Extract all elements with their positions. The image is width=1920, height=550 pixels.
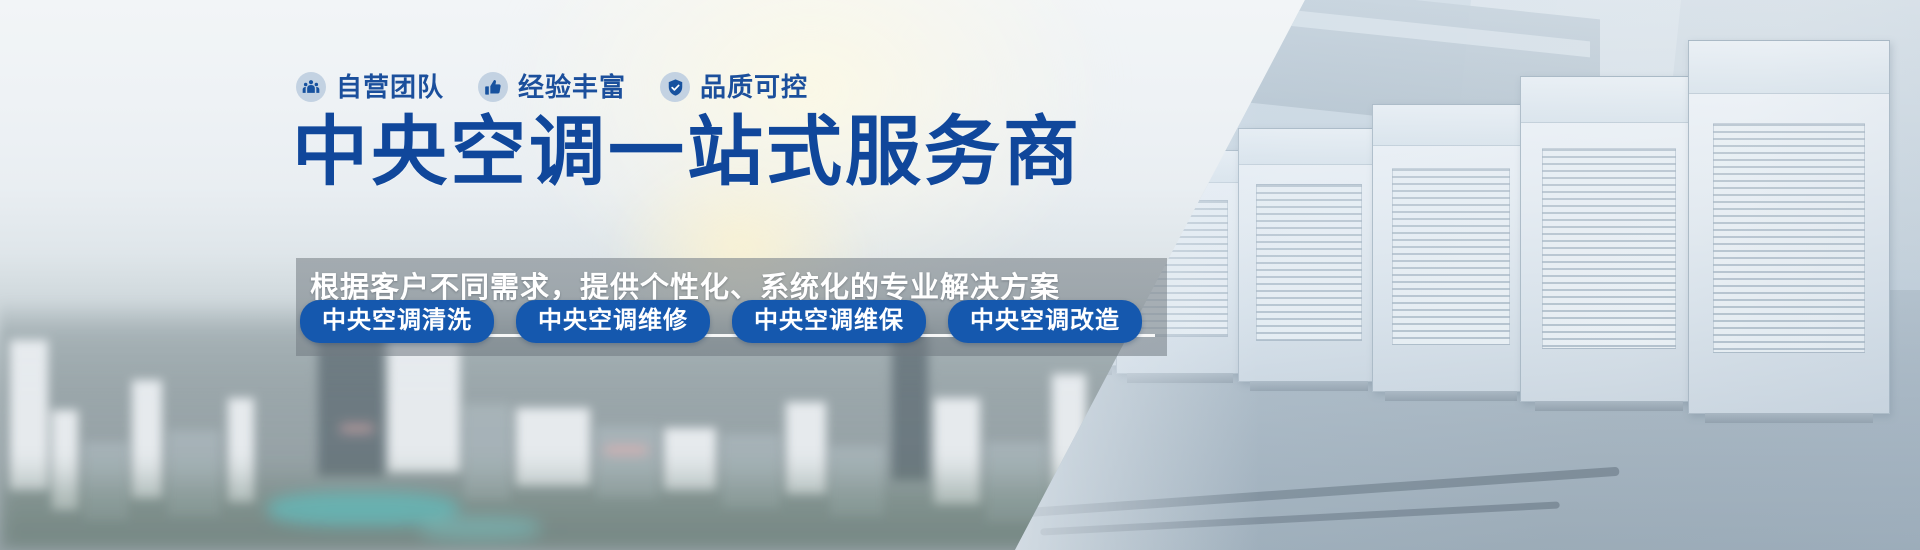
- feature-badges: 自营团队 经验丰富 品质可控: [296, 72, 808, 102]
- hero-banner: 自营团队 经验丰富 品质可控: [0, 0, 1920, 550]
- shield-check-icon: [660, 72, 690, 102]
- badge-self-operated-team: 自营团队: [296, 72, 444, 102]
- badge-label: 经验丰富: [518, 74, 626, 100]
- badge-label: 品质可控: [700, 74, 808, 100]
- badge-label: 自营团队: [336, 74, 444, 100]
- service-pill-list: 中央空调清洗 中央空调维修 中央空调维保 中央空调改造: [300, 300, 1142, 343]
- page-subtitle: 根据客户不同需求，提供个性化、系统化的专业解决方案: [310, 274, 1156, 303]
- service-pill-cleaning[interactable]: 中央空调清洗: [300, 300, 494, 343]
- badge-quality-controllable: 品质可控: [660, 72, 808, 102]
- badge-rich-experience: 经验丰富: [478, 72, 626, 102]
- team-people-icon: [296, 72, 326, 102]
- service-pill-maintenance[interactable]: 中央空调维保: [732, 300, 926, 343]
- page-title: 中央空调一站式服务商: [292, 112, 1082, 194]
- service-pill-repair[interactable]: 中央空调维修: [516, 300, 710, 343]
- thumbs-up-icon: [478, 72, 508, 102]
- service-pill-renovation[interactable]: 中央空调改造: [948, 300, 1142, 343]
